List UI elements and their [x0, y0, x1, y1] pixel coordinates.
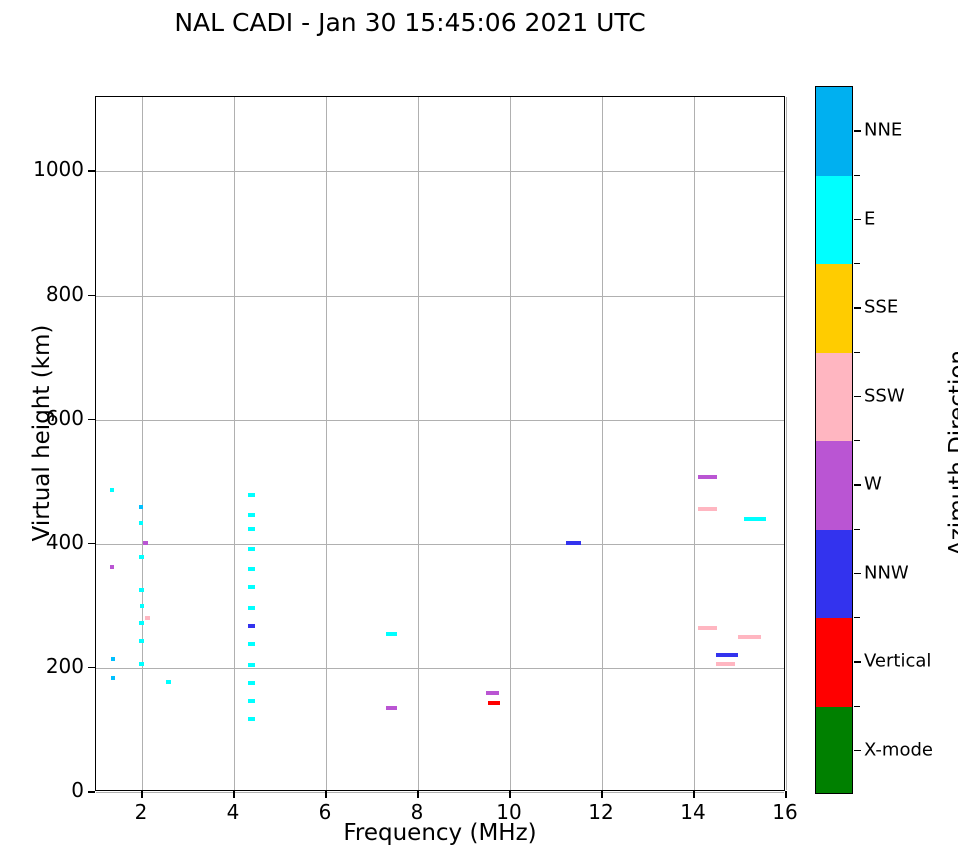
data-mark	[248, 663, 256, 667]
x-axis-tick	[785, 791, 787, 798]
colorbar-segment-x-mode	[816, 707, 852, 795]
y-axis-tick	[88, 295, 95, 297]
colorbar-tick-label-w: W	[864, 474, 882, 495]
colorbar-tick	[854, 307, 861, 308]
data-mark	[143, 541, 148, 545]
data-mark	[486, 691, 499, 695]
data-mark	[139, 521, 144, 525]
data-mark	[140, 604, 144, 608]
gridline-horizontal	[96, 792, 784, 793]
x-axis-tick	[141, 791, 143, 798]
colorbar-tick	[854, 219, 861, 220]
y-axis-tick	[88, 791, 95, 793]
x-axis-tick	[233, 791, 235, 798]
data-mark	[248, 585, 256, 589]
colorbar-tick	[854, 573, 861, 574]
page-title: NAL CADI - Jan 30 15:45:06 2021 UTC	[0, 8, 820, 37]
data-mark	[248, 493, 256, 497]
y-axis-label: Virtual height (km)	[29, 223, 55, 643]
data-mark	[248, 681, 256, 685]
data-mark	[386, 706, 397, 710]
colorbar-tick-label-sse: SSE	[864, 297, 898, 318]
colorbar-segment-ssw	[816, 353, 852, 442]
data-mark	[738, 635, 761, 639]
colorbar-segment-e	[816, 176, 852, 265]
x-axis-tick	[509, 791, 511, 798]
colorbar-segment-nnw	[816, 530, 852, 619]
data-mark	[248, 624, 256, 628]
data-mark	[139, 662, 143, 666]
colorbar-boundary-tick	[854, 440, 860, 441]
data-mark	[566, 541, 582, 545]
data-mark	[698, 507, 717, 511]
data-mark	[248, 699, 256, 703]
colorbar-segment-vertical	[816, 618, 852, 707]
colorbar-boundary-tick	[854, 263, 860, 264]
y-axis-tick	[88, 543, 95, 545]
data-mark	[139, 505, 144, 509]
data-mark	[139, 588, 143, 592]
colorbar-tick-label-vertical: Vertical	[864, 651, 931, 672]
colorbar-tick-label-nnw: NNW	[864, 562, 909, 583]
colorbar-tick-label-ssw: SSW	[864, 385, 905, 406]
colorbar-label: Azimuth Direction	[945, 273, 958, 633]
data-mark	[139, 555, 143, 559]
colorbar-tick	[854, 130, 861, 131]
data-mark	[744, 517, 766, 521]
data-mark	[111, 657, 115, 661]
data-mark	[248, 527, 256, 531]
colorbar-boundary-tick	[854, 175, 860, 176]
colorbar-tick	[854, 396, 861, 397]
colorbar-tick-label-x-mode: X-mode	[864, 739, 933, 760]
x-axis-tick	[325, 791, 327, 798]
data-mark	[139, 621, 143, 625]
data-mark	[716, 653, 738, 657]
data-mark	[166, 680, 171, 684]
data-mark	[248, 513, 256, 517]
data-layer	[96, 97, 784, 790]
colorbar-boundary-tick	[854, 352, 860, 353]
y-axis-tick-label: 200	[46, 654, 84, 678]
colorbar-segment-sse	[816, 264, 852, 353]
colorbar-tick-label-nne: NNE	[864, 120, 902, 141]
colorbar-boundary-tick	[854, 529, 860, 530]
data-mark	[145, 616, 151, 620]
data-mark	[248, 547, 256, 551]
x-axis-tick	[693, 791, 695, 798]
colorbar-boundary-tick	[854, 617, 860, 618]
data-mark	[111, 676, 115, 680]
x-axis-tick	[601, 791, 603, 798]
plot-area	[95, 96, 785, 791]
x-axis-label: Frequency (MHz)	[95, 820, 785, 846]
data-mark	[698, 475, 717, 479]
colorbar-tick	[854, 661, 861, 662]
colorbar-tick	[854, 750, 861, 751]
colorbar-segment-w	[816, 441, 852, 530]
y-axis-tick	[88, 667, 95, 669]
y-axis-tick	[88, 170, 95, 172]
data-mark	[248, 606, 256, 610]
data-mark	[488, 701, 500, 705]
gridline-vertical	[786, 97, 787, 790]
data-mark	[248, 567, 256, 571]
colorbar	[815, 86, 853, 794]
data-mark	[248, 717, 256, 721]
data-mark	[248, 642, 256, 646]
y-axis-tick-label: 1000	[33, 157, 84, 181]
colorbar-tick-label-e: E	[864, 208, 875, 229]
colorbar-segment-nne	[816, 87, 852, 176]
y-axis-tick-label: 0	[71, 778, 84, 802]
y-axis-tick	[88, 419, 95, 421]
data-mark	[698, 626, 717, 630]
ionogram-figure: NAL CADI - Jan 30 15:45:06 2021 UTC 0200…	[0, 0, 958, 857]
data-mark	[139, 639, 143, 643]
x-axis-tick	[417, 791, 419, 798]
data-mark	[716, 662, 735, 666]
colorbar-tick	[854, 484, 861, 485]
colorbar-boundary-tick	[854, 706, 860, 707]
data-mark	[110, 488, 114, 492]
data-mark	[386, 632, 397, 636]
data-mark	[110, 565, 114, 569]
